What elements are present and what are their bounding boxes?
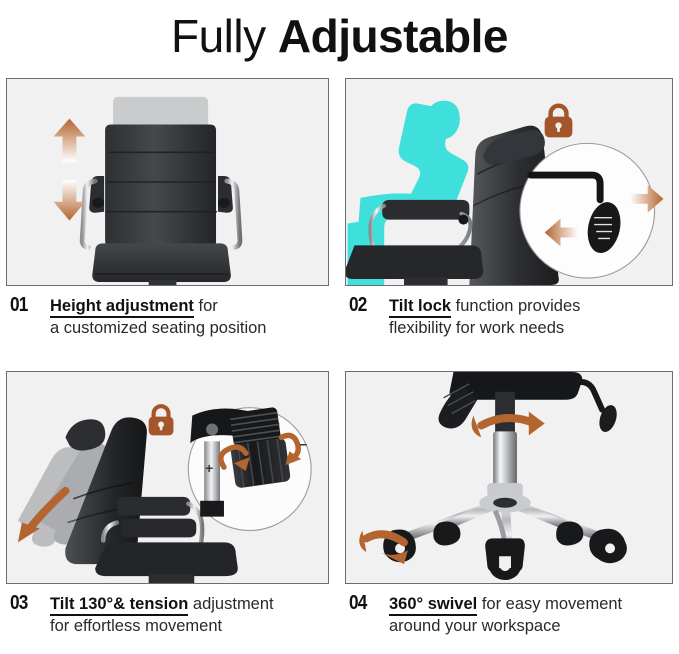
feature-caption-03: 03 Tilt 130°& tension adjustment for eff… — [6, 593, 329, 637]
feature-caption-01: 01 Height adjustment for a customized se… — [6, 295, 329, 339]
chair-base-graphic — [346, 372, 672, 583]
swivel-illustration — [345, 371, 673, 584]
feature-number-02: 02 — [349, 295, 370, 316]
feature-line2-04: around your workspace — [389, 617, 561, 635]
feature-rest-04: for easy movement — [477, 595, 622, 613]
feature-highlight-03: Tilt 130°& tension — [50, 595, 188, 616]
feature-text-04: 360° swivel for easy movement around you… — [389, 593, 622, 637]
tilt-tension-illustration: + − — [6, 371, 329, 584]
feature-caption-04: 04 360° swivel for easy movement around … — [345, 593, 673, 637]
tilt-lock-illustration — [345, 78, 673, 286]
infographic-page: Fully Adjustable — [0, 0, 679, 654]
feature-grid: 01 Height adjustment for a customized se… — [0, 72, 679, 654]
feature-number-04: 04 — [349, 593, 370, 614]
height-adjustment-illustration — [6, 78, 329, 286]
feature-text-01: Height adjustment for a customized seati… — [50, 295, 266, 339]
page-title-bold: Adjustable — [278, 10, 508, 62]
feature-number-03: 03 — [10, 593, 31, 614]
chair-front-graphic — [7, 79, 328, 285]
feature-text-03: Tilt 130°& tension adjustment for effort… — [50, 593, 274, 637]
chair-side-graphic — [346, 79, 672, 285]
feature-cell-02: 02 Tilt lock function provides flexibili… — [339, 72, 679, 365]
page-title-light: Fully — [171, 10, 278, 62]
feature-highlight-04: 360° swivel — [389, 595, 477, 616]
feature-number-01: 01 — [10, 295, 31, 316]
knob-minus-label: − — [299, 436, 307, 452]
feature-line2-01: a customized seating position — [50, 319, 266, 337]
feature-highlight-01: Height adjustment — [50, 297, 194, 318]
feature-rest-01: for — [194, 297, 218, 315]
feature-rest-02: function provides — [451, 297, 580, 315]
feature-rest-03: adjustment — [188, 595, 273, 613]
feature-line2-03: for effortless movement — [50, 617, 222, 635]
feature-highlight-02: Tilt lock — [389, 297, 451, 318]
tension-knob-callout: + − — [188, 406, 311, 530]
feature-cell-01: 01 Height adjustment for a customized se… — [0, 72, 339, 365]
knob-plus-label: + — [205, 460, 213, 476]
feature-line2-02: flexibility for work needs — [389, 319, 564, 337]
chair-recline-graphic: + − — [7, 372, 328, 583]
feature-text-02: Tilt lock function provides flexibility … — [389, 295, 580, 339]
feature-caption-02: 02 Tilt lock function provides flexibili… — [345, 295, 673, 339]
feature-cell-04: 04 360° swivel for easy movement around … — [339, 365, 679, 654]
page-title: Fully Adjustable — [0, 0, 679, 72]
feature-cell-03: + − 03 Tilt 130°& tension adjustment for… — [0, 365, 339, 654]
